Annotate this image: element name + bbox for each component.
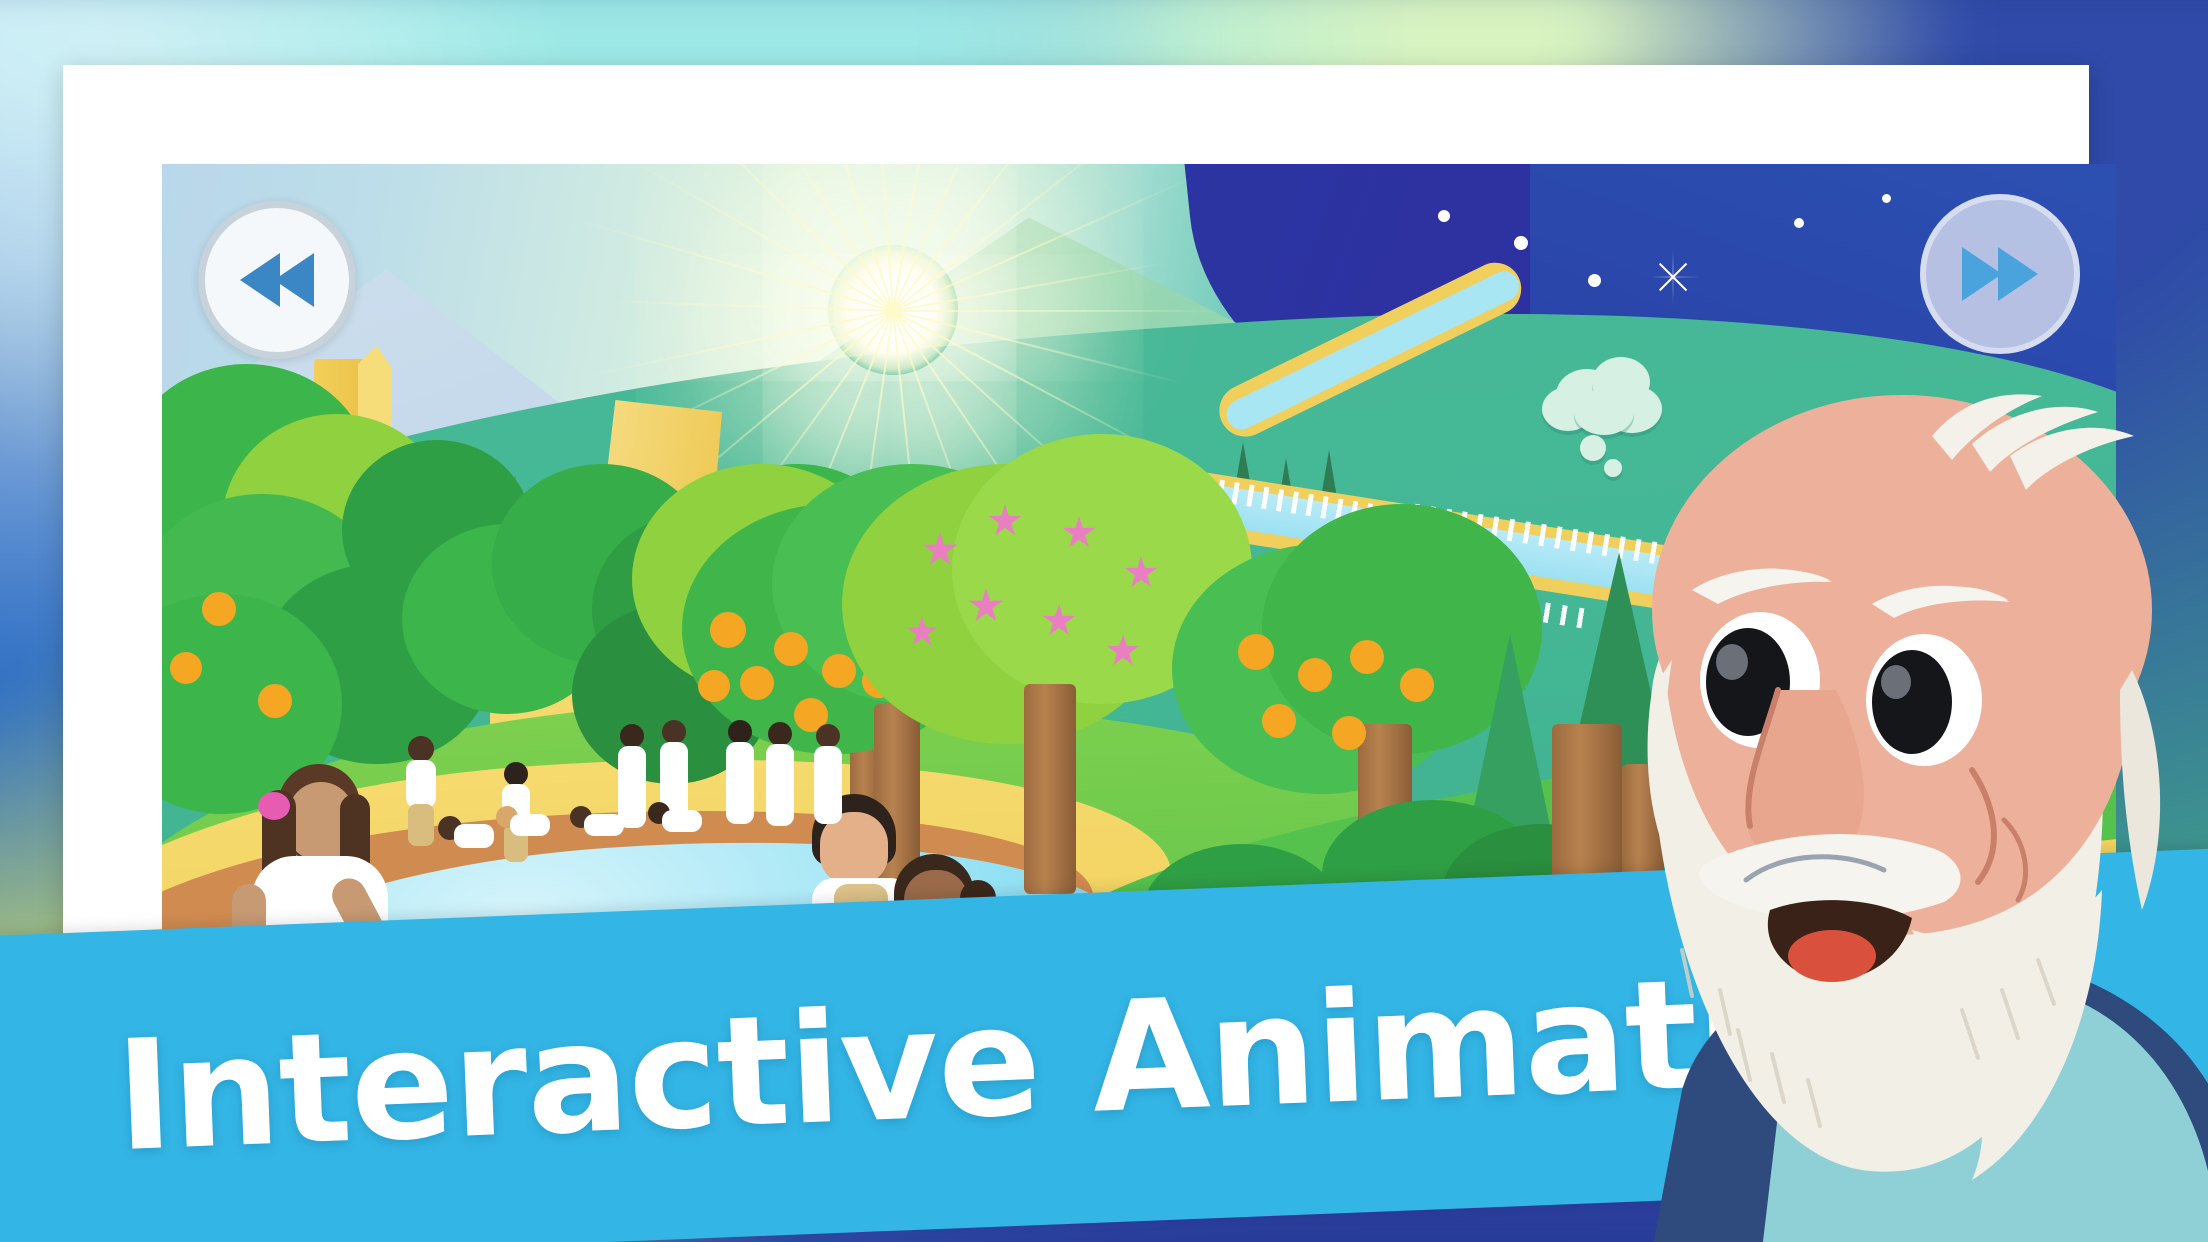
sparkle-star-icon bbox=[1646, 250, 1700, 304]
old-man-narrator bbox=[1532, 390, 2208, 1242]
sun-icon bbox=[778, 195, 1008, 425]
fast-forward-button[interactable] bbox=[1920, 194, 2080, 354]
fast-forward-double-right-icon bbox=[1956, 241, 2044, 307]
promo-slide: Interactive Animations bbox=[0, 0, 2208, 1242]
rewind-button[interactable] bbox=[198, 201, 356, 359]
rewind-double-left-icon bbox=[234, 247, 320, 313]
old-man-illustration bbox=[1532, 390, 2208, 1242]
